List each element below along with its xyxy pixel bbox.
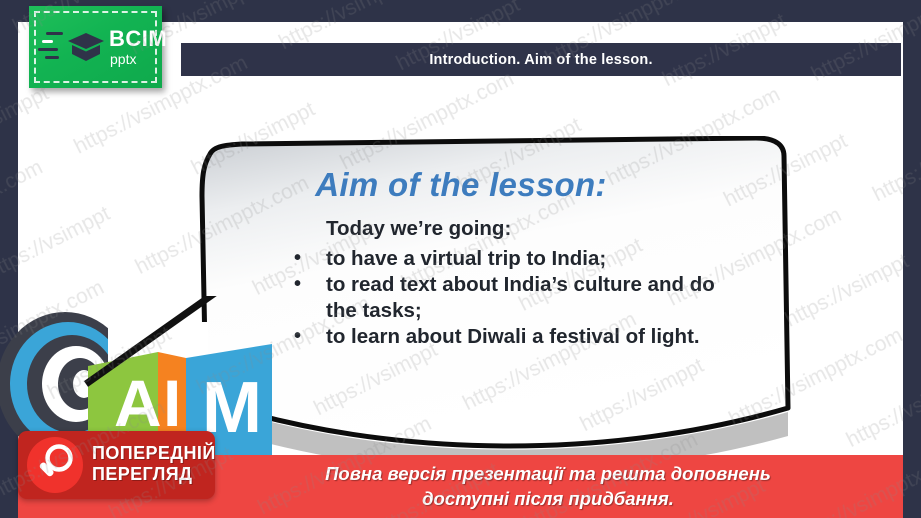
letter-a: A [114,366,162,440]
banner-text: Повна версія презентації та решта доповн… [218,461,878,511]
motion-lines-icon [38,32,66,64]
banner-line-2: доступні після придбання. [218,486,878,511]
badge-line-2: ПЕРЕГЛЯД [92,464,216,485]
slide-header-bar: Introduction. Aim of the lesson. [181,43,901,76]
slide-canvas: BCIM pptx Introduction. Aim of the lesso… [0,0,921,518]
banner-line-1: Повна версія презентації та решта доповн… [218,461,878,486]
badge-line-1: ПОПЕРЕДНІЙ [92,443,216,464]
magnifier-icon [27,437,83,493]
logo-subtitle: pptx [110,52,136,66]
graduation-cap-icon [66,30,106,66]
bcim-logo: BCIM pptx [29,6,162,88]
letter-i: I [163,366,181,440]
badge-text: ПОПЕРЕДНІЙ ПЕРЕГЛЯД [92,443,216,485]
page-title: Introduction. Aim of the lesson. [429,52,652,68]
logo-name: BCIM [109,28,167,50]
preview-badge: ПОПЕРЕДНІЙ ПЕРЕГЛЯД [18,431,215,499]
